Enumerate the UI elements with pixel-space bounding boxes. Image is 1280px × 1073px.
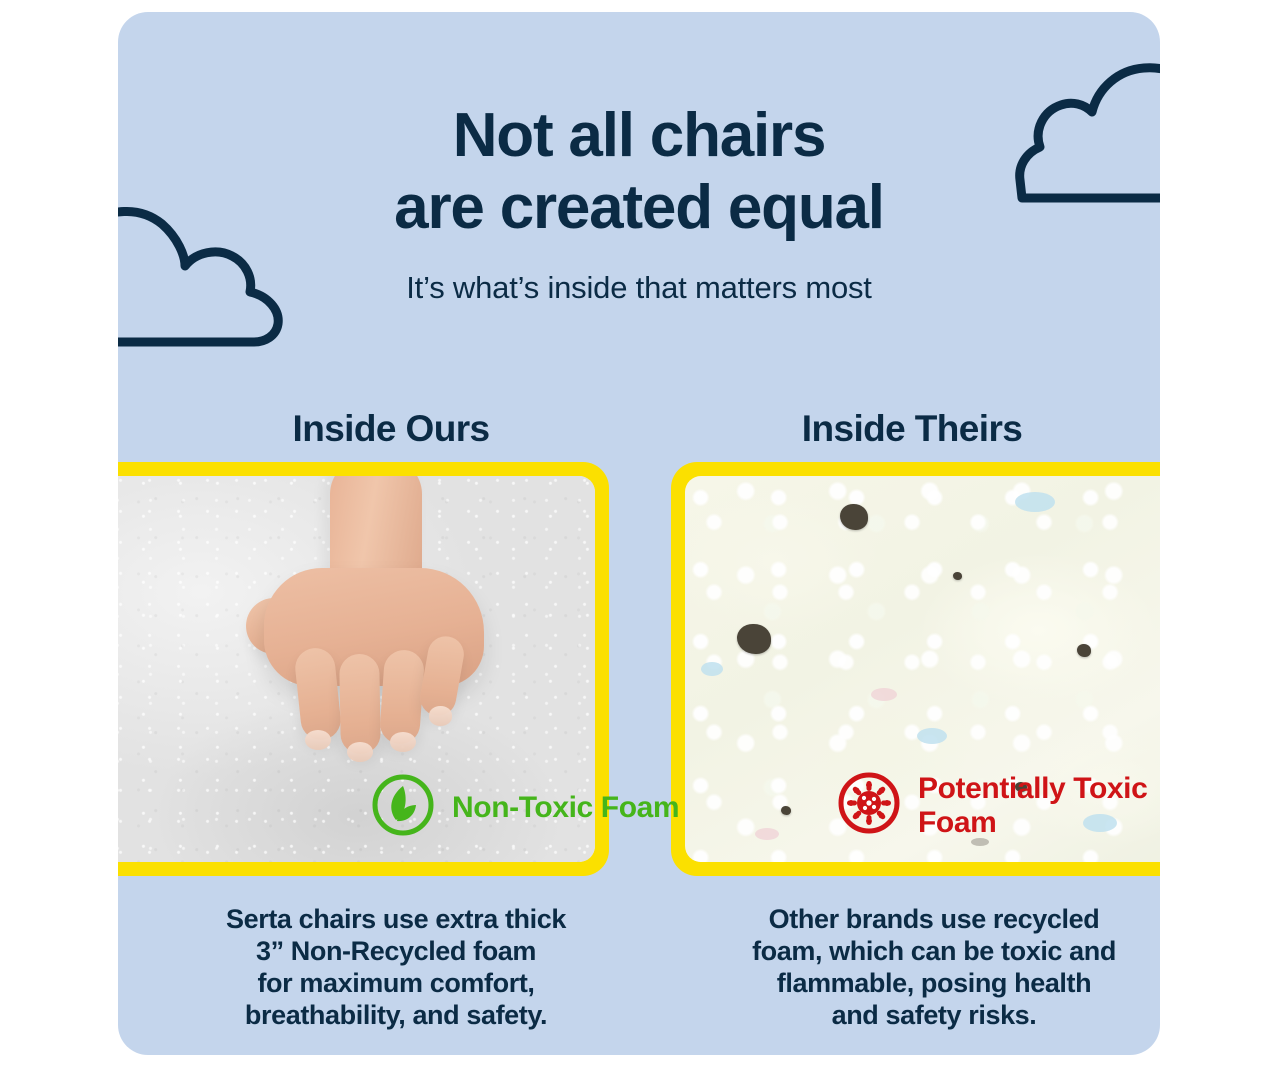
infographic-stage: Not all chairs are created equal It’s wh… bbox=[0, 0, 1280, 1073]
caption-inside-theirs: Other brands use recycled foam, which ca… bbox=[684, 904, 1160, 1031]
infographic-card: Not all chairs are created equal It’s wh… bbox=[118, 12, 1160, 1055]
caption-line: Other brands use recycled bbox=[684, 904, 1160, 936]
page-title: Not all chairs are created equal bbox=[118, 100, 1160, 244]
caption-line: breathability, and safety. bbox=[136, 1000, 656, 1032]
column-heading-ours: Inside Ours bbox=[118, 408, 664, 450]
foam-fleck-pink bbox=[755, 828, 779, 840]
leaf-in-circle-icon bbox=[370, 772, 436, 843]
foam-speck bbox=[840, 504, 868, 530]
foam-speck bbox=[737, 624, 771, 654]
foam-fleck-blue bbox=[917, 728, 947, 744]
badge-potentially-toxic-foam: Potentially Toxic Foam bbox=[836, 770, 1160, 841]
foam-speck bbox=[953, 572, 962, 580]
headline-line-1: Not all chairs bbox=[118, 100, 1160, 172]
badge-line-1: Potentially bbox=[918, 772, 1065, 805]
caption-line: flammable, posing health bbox=[684, 968, 1160, 1000]
fingernail bbox=[429, 706, 452, 726]
caption-line: 3” Non-Recycled foam bbox=[136, 936, 656, 968]
badge-line-2: Foam bbox=[601, 791, 679, 824]
caption-line: for maximum comfort, bbox=[136, 968, 656, 1000]
caption-line: foam, which can be toxic and bbox=[684, 936, 1160, 968]
fingernail bbox=[347, 742, 373, 762]
foam-fleck-pink bbox=[871, 688, 897, 701]
foam-speck bbox=[1077, 644, 1091, 657]
column-heading-theirs: Inside Theirs bbox=[664, 408, 1160, 450]
badge-label-non-toxic: Non-Toxic Foam bbox=[452, 791, 679, 825]
finger-ring bbox=[379, 649, 425, 746]
foam-fleck-blue bbox=[701, 662, 723, 676]
hand-illustration bbox=[220, 476, 520, 768]
foam-fleck-blue bbox=[1015, 492, 1055, 512]
finger-middle bbox=[339, 654, 381, 755]
virus-in-circle-icon bbox=[836, 770, 902, 841]
caption-inside-ours: Serta chairs use extra thick 3” Non-Recy… bbox=[136, 904, 656, 1031]
foam-speck bbox=[781, 806, 791, 815]
fingernail bbox=[390, 732, 416, 752]
headline-line-2: are created equal bbox=[118, 172, 1160, 244]
caption-line: Serta chairs use extra thick bbox=[136, 904, 656, 936]
fingernail bbox=[305, 730, 331, 750]
caption-line: and safety risks. bbox=[684, 1000, 1160, 1032]
badge-label-toxic: Potentially Toxic Foam bbox=[918, 772, 1160, 839]
badge-line-1: Non-Toxic bbox=[452, 791, 593, 824]
subheadline: It’s what’s inside that matters most bbox=[118, 270, 1160, 306]
badge-non-toxic-foam: Non-Toxic Foam bbox=[370, 772, 679, 843]
